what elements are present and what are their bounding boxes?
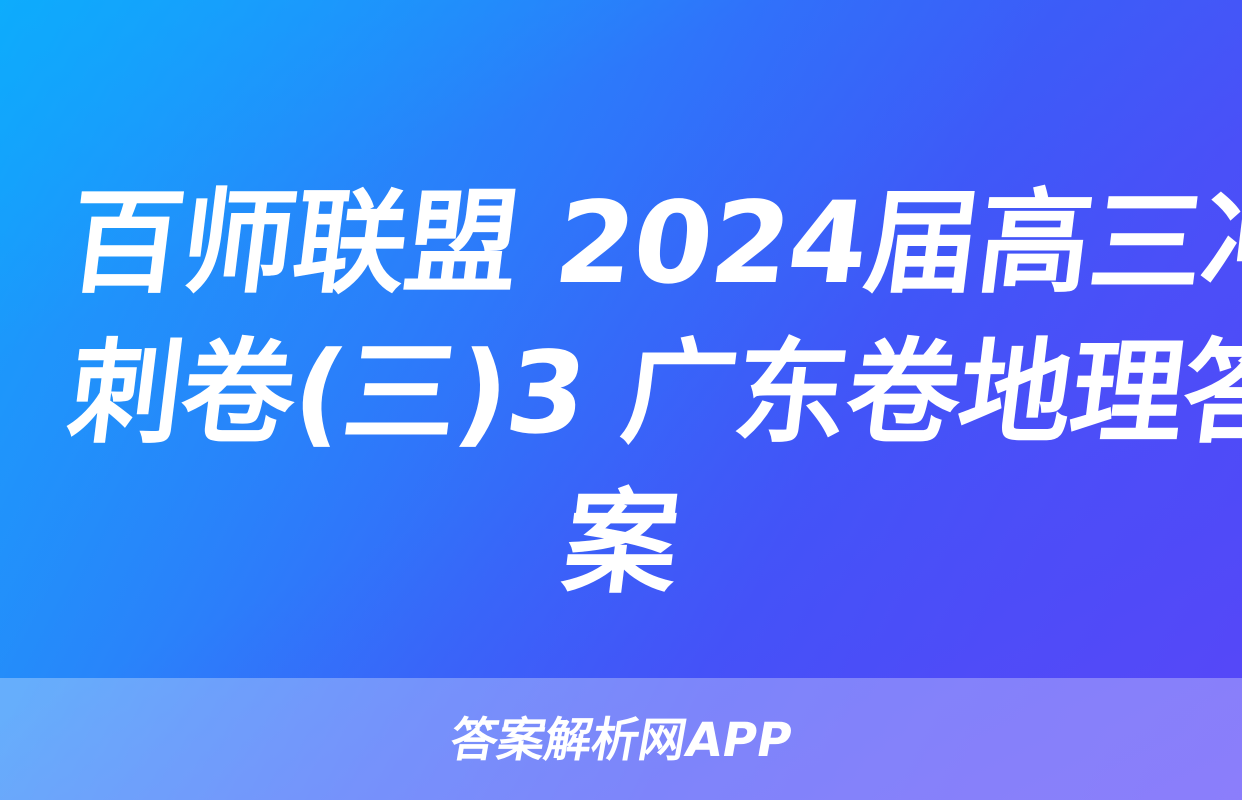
title-line-2: 刺卷(三)3 广东卷地理答 <box>61 318 1181 468</box>
watermark-band: 答案解析网APP <box>0 678 1242 800</box>
watermark-app-label: 答案解析网APP <box>447 717 796 764</box>
page-title: 百师联盟 2024届高三冲 刺卷(三)3 广东卷地理答 案 <box>70 168 1172 618</box>
title-line-1: 百师联盟 2024届高三冲 <box>61 168 1181 318</box>
title-line-3: 案 <box>61 468 1181 618</box>
cover-card: 百师联盟 2024届高三冲 刺卷(三)3 广东卷地理答 案 答案解析网APP <box>0 0 1242 800</box>
